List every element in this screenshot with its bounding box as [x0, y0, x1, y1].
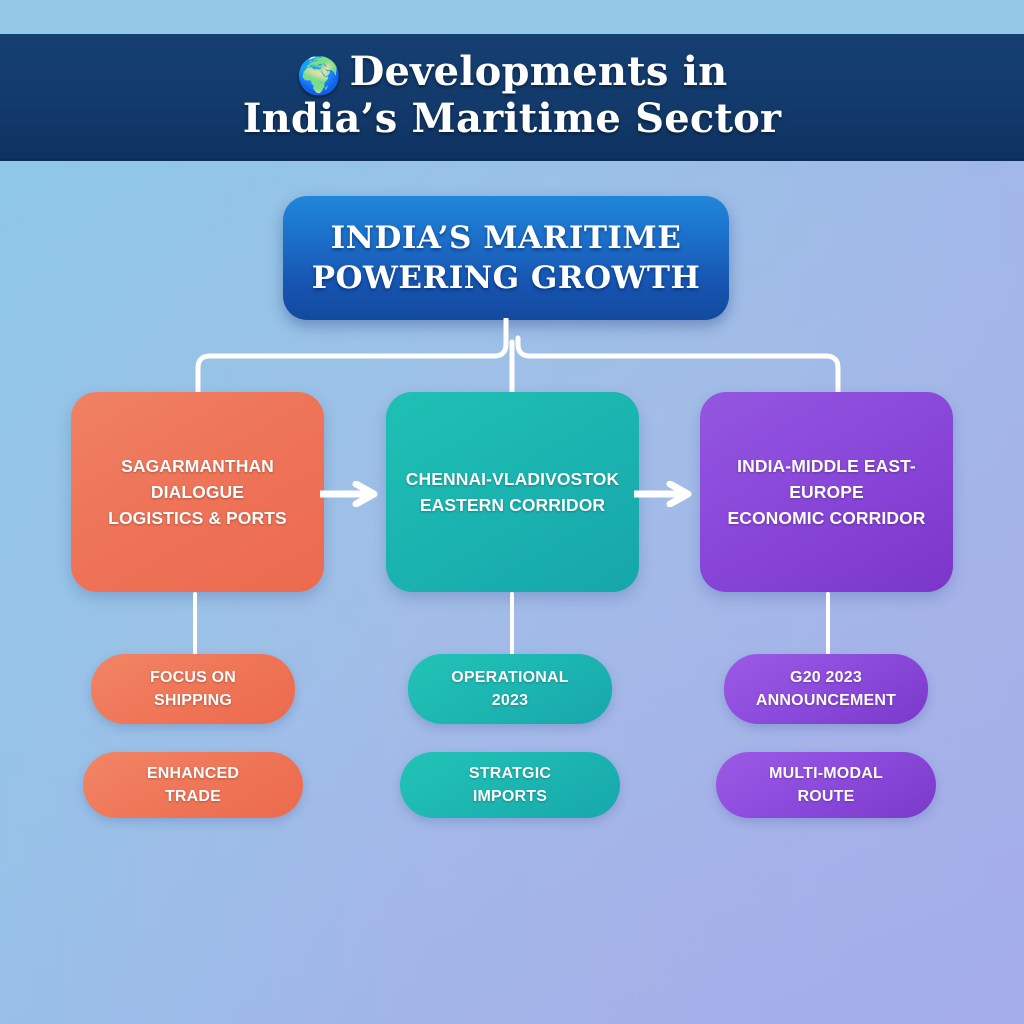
pill-line-2: 2023 [492, 692, 528, 709]
page-title-line-1: Developments in [350, 48, 728, 95]
main-box-line-2: EASTERN CORRIDOR [420, 495, 605, 515]
pill-line-2: IMPORTS [473, 788, 547, 805]
pill-line-2: SHIPPING [154, 692, 232, 709]
pill-label: OPERATIONAL 2023 [441, 666, 578, 712]
pill-g20-2023-announcement[interactable]: G20 2023 ANNOUNCEMENT [724, 654, 928, 724]
top-strip [0, 0, 1024, 34]
main-box-chennai-vladivostok[interactable]: CHENNAI-VLADIVOSTOK EASTERN CORRIDOR [386, 392, 639, 592]
pill-line-2: TRADE [165, 788, 221, 805]
page-title: 🌍Developments in India’s Maritime Sector [203, 50, 822, 141]
pill-line-1: G20 2023 [790, 669, 862, 686]
main-title-line-2: POWERING GROWTH [312, 260, 701, 296]
main-box-line-2: LOGISTICS & PORTS [108, 508, 287, 528]
pill-line-1: STRATGIC [469, 765, 551, 782]
pill-line-2: ROUTE [798, 788, 855, 805]
pill-label: ENHANCED TRADE [137, 762, 249, 808]
pill-line-2: ANNOUNCEMENT [756, 692, 896, 709]
arrow-right-icon [632, 481, 694, 507]
pill-line-1: MULTI-MODAL [769, 765, 883, 782]
main-box-label: SAGARMANTHAN DIALOGUE LOGISTICS & PORTS [71, 453, 324, 532]
main-box-line-1: CHENNAI-VLADIVOSTOK [406, 469, 620, 489]
pill-line-1: ENHANCED [147, 765, 239, 782]
arrow-right-icon [318, 481, 380, 507]
main-box-line-1: INDIA-MIDDLE EAST-EUROPE [737, 456, 916, 502]
pill-multi-modal-route[interactable]: MULTI-MODAL ROUTE [716, 752, 936, 818]
stem-connector [826, 592, 830, 656]
main-box-line-1: SAGARMANTHAN DIALOGUE [121, 456, 274, 502]
pill-line-1: FOCUS ON [150, 669, 236, 686]
main-box-label: CHENNAI-VLADIVOSTOK EASTERN CORRIDOR [398, 466, 628, 519]
pill-enhanced-trade[interactable]: ENHANCED TRADE [83, 752, 303, 818]
pill-label: G20 2023 ANNOUNCEMENT [746, 666, 906, 712]
pill-stratgic-imports[interactable]: STRATGIC IMPORTS [400, 752, 620, 818]
pill-line-1: OPERATIONAL [451, 669, 568, 686]
infographic-canvas: 🌍Developments in India’s Maritime Sector… [0, 0, 1024, 1024]
main-box-imec[interactable]: INDIA-MIDDLE EAST-EUROPE ECONOMIC CORRID… [700, 392, 953, 592]
main-box-sagarmanthan[interactable]: SAGARMANTHAN DIALOGUE LOGISTICS & PORTS [71, 392, 324, 592]
main-title-card: INDIA’S MARITIME POWERING GROWTH [283, 196, 729, 320]
header-band: 🌍Developments in India’s Maritime Sector [0, 34, 1024, 161]
pill-label: STRATGIC IMPORTS [459, 762, 561, 808]
main-title-card-text: INDIA’S MARITIME POWERING GROWTH [312, 218, 701, 299]
main-title-line-1: INDIA’S MARITIME [331, 220, 682, 256]
main-boxes-row: SAGARMANTHAN DIALOGUE LOGISTICS & PORTS … [0, 392, 1024, 592]
main-box-label: INDIA-MIDDLE EAST-EUROPE ECONOMIC CORRID… [700, 453, 953, 532]
pill-focus-on-shipping[interactable]: FOCUS ON SHIPPING [91, 654, 295, 724]
stem-connector [193, 592, 197, 656]
page-title-line-2: India’s Maritime Sector [243, 95, 782, 142]
pill-operational-2023[interactable]: OPERATIONAL 2023 [408, 654, 612, 724]
stem-connector [510, 592, 514, 656]
pill-label: MULTI-MODAL ROUTE [759, 762, 893, 808]
pill-label: FOCUS ON SHIPPING [140, 666, 246, 712]
main-box-line-2: ECONOMIC CORRIDOR [727, 508, 925, 528]
globe-icon: 🌍 [297, 55, 342, 97]
